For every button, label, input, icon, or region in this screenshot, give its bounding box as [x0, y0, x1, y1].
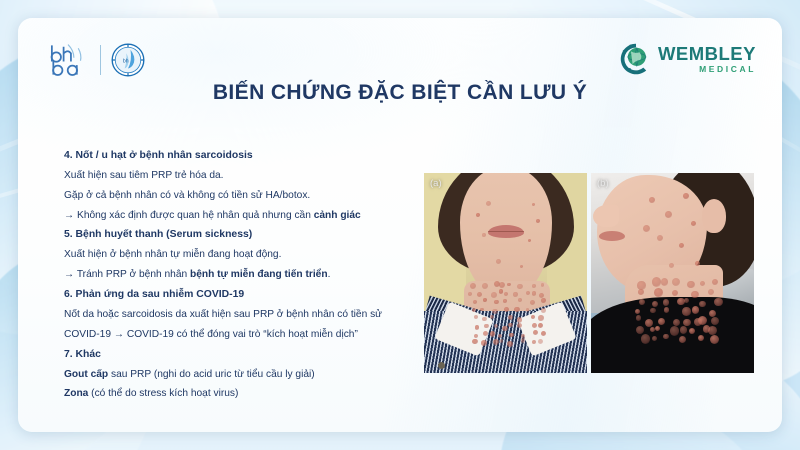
skin-papule — [650, 308, 655, 313]
skin-papule — [530, 300, 535, 305]
skin-papule — [490, 331, 495, 336]
section-heading-5: 5. Bệnh huyết thanh (Serum sickness) — [64, 230, 414, 240]
wembley-brand-logo: WEMBLEY MEDICAL — [619, 42, 756, 76]
content-card: bh — [18, 18, 782, 432]
skin-papule — [518, 298, 522, 302]
skin-papule — [507, 341, 512, 346]
figure-b-nose — [593, 205, 619, 227]
page-title: BIẾN CHỨNG ĐẶC BIỆT CẦN LƯU Ý — [18, 81, 782, 105]
section-5-line-2-emphasis: bệnh tự miễn đang tiến triển — [190, 269, 328, 280]
section-7-line-1-emphasis: Gout cấp — [64, 369, 108, 380]
skin-papule — [664, 307, 670, 313]
skin-papule — [643, 225, 650, 232]
skin-papule — [710, 335, 719, 344]
skin-papule — [504, 307, 509, 312]
skin-papule — [503, 299, 507, 303]
skin-papule — [683, 193, 689, 199]
skin-papule — [695, 261, 700, 266]
section-6-line-2: COVID-19 → COVID-19 có thể đóng vai trò … — [64, 330, 414, 340]
figure-b-ear — [702, 199, 726, 233]
skin-papule — [652, 301, 658, 307]
section-heading-7: 7. Khác — [64, 350, 414, 360]
skin-papule — [687, 281, 695, 289]
skin-papule — [492, 309, 497, 314]
figure-a-photo: (a) — [424, 173, 587, 373]
circular-seal-logo: bh — [111, 43, 145, 77]
skin-papule — [494, 324, 498, 328]
skin-papule — [482, 283, 488, 289]
skin-papule — [521, 338, 525, 342]
skin-papule — [658, 318, 665, 325]
logo-divider — [100, 45, 101, 75]
skin-papule — [509, 333, 514, 338]
skin-papule — [499, 282, 505, 288]
skin-papule — [532, 323, 537, 328]
skin-papule — [538, 339, 543, 344]
skin-papule — [698, 316, 707, 325]
skin-papule — [672, 278, 680, 286]
skin-papule — [641, 334, 650, 343]
skin-papule — [482, 317, 486, 321]
skin-papule — [482, 233, 486, 237]
figure-group: (a) (b) — [424, 173, 754, 373]
section-7-line-2-emphasis: Zona — [64, 388, 88, 399]
skin-papule — [474, 315, 478, 319]
skin-papule — [652, 336, 657, 341]
skin-papule — [472, 339, 478, 345]
section-heading-6: 6. Phản ứng da sau nhiễm COVID-19 — [64, 290, 414, 300]
section-4-line-3-text: → Không xác định được quan hệ nhân quả n… — [64, 210, 314, 221]
brand-subtitle: MEDICAL — [658, 65, 756, 74]
section-7-line-1-text: sau PRP (nghi do acid uric từ tiểu cầu l… — [108, 369, 315, 380]
figure-a-button — [438, 362, 445, 369]
skin-papule — [680, 326, 687, 333]
skin-papule — [673, 319, 680, 326]
figure-b-photo: (b) — [591, 173, 754, 373]
skin-papule — [475, 325, 480, 330]
figure-b-lips — [599, 231, 625, 241]
skin-papule — [507, 283, 510, 286]
skin-papule — [636, 326, 644, 334]
skin-papule — [526, 308, 530, 312]
section-7-line-2: Zona (có thể do stress kích hoạt virus) — [64, 389, 414, 399]
skin-papule — [486, 201, 491, 206]
section-5-line-2-text: → Tránh PRP ở bệnh nhân — [64, 269, 190, 280]
figure-b-label: (b) — [597, 178, 609, 189]
skin-papule — [649, 197, 655, 203]
skin-papule — [494, 300, 499, 305]
figure-a-lip-line — [488, 231, 524, 233]
skin-papule — [538, 323, 543, 328]
skin-papule — [491, 292, 497, 298]
section-6-line-1: Nốt da hoặc sarcoidosis da xuất hiện sau… — [64, 310, 414, 320]
skin-papule — [539, 293, 544, 298]
skin-papule — [691, 221, 696, 226]
skin-papule — [638, 289, 644, 295]
skin-papule — [541, 298, 546, 303]
skin-papule — [481, 340, 487, 346]
section-4-line-3-emphasis: cảnh giác — [314, 210, 361, 221]
skin-papule — [692, 306, 699, 313]
skin-papule — [670, 326, 679, 335]
section-5-line-2: → Tránh PRP ở bệnh nhân bệnh tự miễn đan… — [64, 270, 414, 280]
skin-papule — [496, 259, 501, 264]
bhga-monogram-logo — [46, 42, 90, 78]
left-logo-group: bh — [46, 42, 145, 78]
skin-papule — [682, 307, 690, 315]
globe-gear-icon — [619, 42, 653, 76]
skin-papule — [531, 315, 535, 319]
skin-papule — [714, 298, 722, 306]
section-heading-4: 4. Nốt / u hạt ở bệnh nhân sarcoidosis — [64, 151, 414, 161]
skin-papule — [541, 308, 546, 313]
skin-papule — [508, 323, 512, 327]
figure-a-label: (a) — [430, 178, 442, 189]
skin-papule — [517, 323, 522, 328]
content-body: 4. Nốt / u hạt ở bệnh nhân sarcoidosis X… — [64, 151, 414, 409]
slide-root: bh — [0, 0, 800, 450]
skin-papule — [699, 301, 705, 307]
skin-papule — [652, 277, 661, 286]
section-4-line-2: Gặp ở cả bệnh nhân có và không có tiền s… — [64, 191, 414, 201]
svg-text:bh: bh — [123, 59, 129, 65]
skin-papule — [636, 315, 641, 320]
section-7-line-1: Gout cấp sau PRP (nghi do acid uric từ t… — [64, 370, 414, 380]
section-7-line-2-text: (có thể do stress kích hoạt virus) — [88, 388, 238, 399]
skin-papule — [493, 339, 499, 345]
section-5-line-2-period: . — [328, 269, 331, 280]
skin-papule — [541, 331, 546, 336]
section-4-line-1: Xuất hiện sau tiêm PRP trẻ hóa da. — [64, 171, 414, 181]
section-4-line-3: → Không xác định được quan hệ nhân quả n… — [64, 211, 414, 221]
skin-papule — [483, 298, 487, 302]
skin-papule — [661, 278, 669, 286]
skin-papule — [708, 289, 714, 295]
skin-papule — [691, 291, 698, 298]
skin-papule — [637, 281, 645, 289]
skin-papule — [654, 288, 663, 297]
brand-name: WEMBLEY — [658, 45, 756, 64]
skin-papule — [517, 317, 522, 322]
section-5-line-1: Xuất hiện ở bệnh nhân tự miễn đang hoạt … — [64, 250, 414, 260]
skin-papule — [663, 334, 668, 339]
skin-papule — [513, 292, 517, 296]
skin-papule — [665, 211, 672, 218]
skin-papule — [538, 315, 543, 320]
skin-papule — [532, 284, 536, 288]
